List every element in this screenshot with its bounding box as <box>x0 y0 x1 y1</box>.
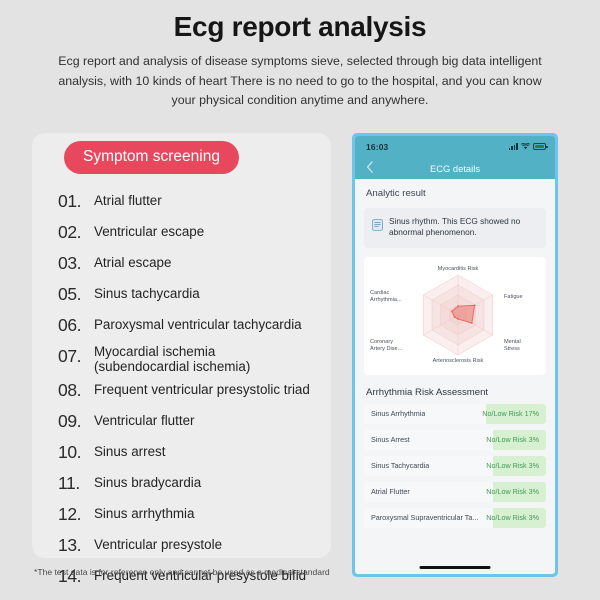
symptom-number: 05. <box>58 281 92 307</box>
risk-row[interactable]: Atrial FlutterNo/Low Risk 3% <box>364 482 546 502</box>
disclaimer-text: *The test data is for reference only and… <box>34 567 330 577</box>
symptom-number: 12. <box>58 501 92 527</box>
radar-axis-label: MentalStress <box>504 339 548 353</box>
symptom-label: Frequent ventricular presystolic triad <box>92 377 310 403</box>
symptom-number: 13. <box>58 532 92 558</box>
risk-value: No/Low Risk 3% <box>486 461 546 470</box>
risk-value: No/Low Risk 3% <box>486 513 546 522</box>
radar-axis-label: Fatigue <box>504 294 548 301</box>
risk-name: Atrial Flutter <box>371 487 410 496</box>
risk-list: Sinus ArrhythmiaNo/Low Risk 17%Sinus Arr… <box>364 404 546 528</box>
risk-name: Sinus Arrhythmia <box>371 409 425 418</box>
symptom-label: Ventricular escape <box>92 219 204 245</box>
phone-screen: 16:03 ECG details <box>355 136 555 574</box>
symptom-label: Atrial escape <box>92 250 171 276</box>
phone-mockup: 16:03 ECG details <box>352 133 558 577</box>
risk-value: No/Low Risk 3% <box>486 435 546 444</box>
symptom-item: 13.Ventricular presystole <box>58 532 331 560</box>
home-indicator <box>420 566 491 569</box>
symptom-number: 06. <box>58 312 92 338</box>
symptom-number: 08. <box>58 377 92 403</box>
symptom-item: 10.Sinus arrest <box>58 439 331 467</box>
risk-name: Paroxysmal Supraventricular Ta... <box>371 513 478 522</box>
symptom-label: Myocardial ischemia(subendocardial ische… <box>92 343 250 374</box>
symptom-item: 02.Ventricular escape <box>58 219 331 247</box>
symptom-label: Sinus arrest <box>92 439 165 465</box>
risk-row[interactable]: Sinus TachycardiaNo/Low Risk 3% <box>364 456 546 476</box>
symptom-item: 01.Atrial flutter <box>58 188 331 216</box>
radar-axis-label: Myocarditis Risk <box>427 266 489 273</box>
symptom-label: Sinus arrhythmia <box>92 501 194 527</box>
risk-value: No/Low Risk 17% <box>482 409 546 418</box>
battery-icon <box>533 143 546 150</box>
nav-bar: ECG details <box>355 157 555 179</box>
symptom-number: 07. <box>58 343 92 369</box>
symptom-number: 02. <box>58 219 92 245</box>
status-icons <box>509 143 546 150</box>
risk-row[interactable]: Sinus ArrestNo/Low Risk 3% <box>364 430 546 450</box>
back-button[interactable] <box>363 160 376 173</box>
status-bar: 16:03 <box>355 136 555 157</box>
risk-name: Sinus Arrest <box>371 435 410 444</box>
symptom-number: 03. <box>58 250 92 276</box>
radar-axis-label: Arteriosclerosis Risk <box>422 358 494 365</box>
screen-scroll-area[interactable]: Analytic result Sinus rhythm. This ECG s… <box>355 179 555 574</box>
risk-row[interactable]: Sinus ArrhythmiaNo/Low Risk 17% <box>364 404 546 424</box>
symptom-label: Sinus tachycardia <box>92 281 200 307</box>
symptom-list: 01.Atrial flutter02.Ventricular escape03… <box>58 188 331 594</box>
wifi-icon <box>521 143 530 150</box>
risk-value: No/Low Risk 3% <box>486 487 546 496</box>
page-title: Ecg report analysis <box>0 0 600 43</box>
nav-title: ECG details <box>355 163 555 174</box>
symptom-item: 08.Frequent ventricular presystolic tria… <box>58 377 331 405</box>
status-clock: 16:03 <box>366 142 388 152</box>
symptom-item: 07.Myocardial ischemia(subendocardial is… <box>58 343 331 374</box>
symptom-label: Ventricular presystole <box>92 532 222 558</box>
analytic-result-card: Sinus rhythm. This ECG showed no abnorma… <box>364 208 546 248</box>
symptom-number: 01. <box>58 188 92 214</box>
risk-assessment-title: Arrhythmia Risk Assessment <box>364 375 546 398</box>
symptom-label: Paroxysmal ventricular tachycardia <box>92 312 302 338</box>
symptom-screening-card: Symptom screening 01.Atrial flutter02.Ve… <box>32 133 331 558</box>
risk-name: Sinus Tachycardia <box>371 461 429 470</box>
symptom-number: 09. <box>58 408 92 434</box>
symptom-item: 12.Sinus arrhythmia <box>58 501 331 529</box>
analytic-result-text: Sinus rhythm. This ECG showed no abnorma… <box>389 216 537 239</box>
symptom-item: 06.Paroxysmal ventricular tachycardia <box>58 312 331 340</box>
symptom-item: 11.Sinus bradycardia <box>58 470 331 498</box>
symptom-number: 10. <box>58 439 92 465</box>
symptom-label: Atrial flutter <box>92 188 162 214</box>
symptom-label: Ventricular flutter <box>92 408 194 434</box>
signal-bars-icon <box>509 143 518 150</box>
page-subtitle: Ecg report and analysis of disease sympt… <box>51 52 549 111</box>
risk-row[interactable]: Paroxysmal Supraventricular Ta...No/Low … <box>364 508 546 528</box>
document-report-icon <box>372 219 383 231</box>
symptom-item: 03.Atrial escape <box>58 250 331 278</box>
symptom-screening-badge: Symptom screening <box>64 141 239 174</box>
symptom-item: 05.Sinus tachycardia <box>58 281 331 309</box>
symptom-label: Sinus bradycardia <box>92 470 201 496</box>
chevron-left-icon <box>366 161 373 173</box>
analytic-result-title: Analytic result <box>364 179 546 199</box>
radar-axis-label: CoronaryArtery Dise... <box>370 339 420 353</box>
radar-chart-card: Myocarditis RiskFatigueMentalStressArter… <box>364 257 546 375</box>
symptom-item: 09.Ventricular flutter <box>58 408 331 436</box>
radar-axis-label: CardiacArrhythmia... <box>370 290 420 304</box>
symptom-number: 11. <box>58 470 92 496</box>
